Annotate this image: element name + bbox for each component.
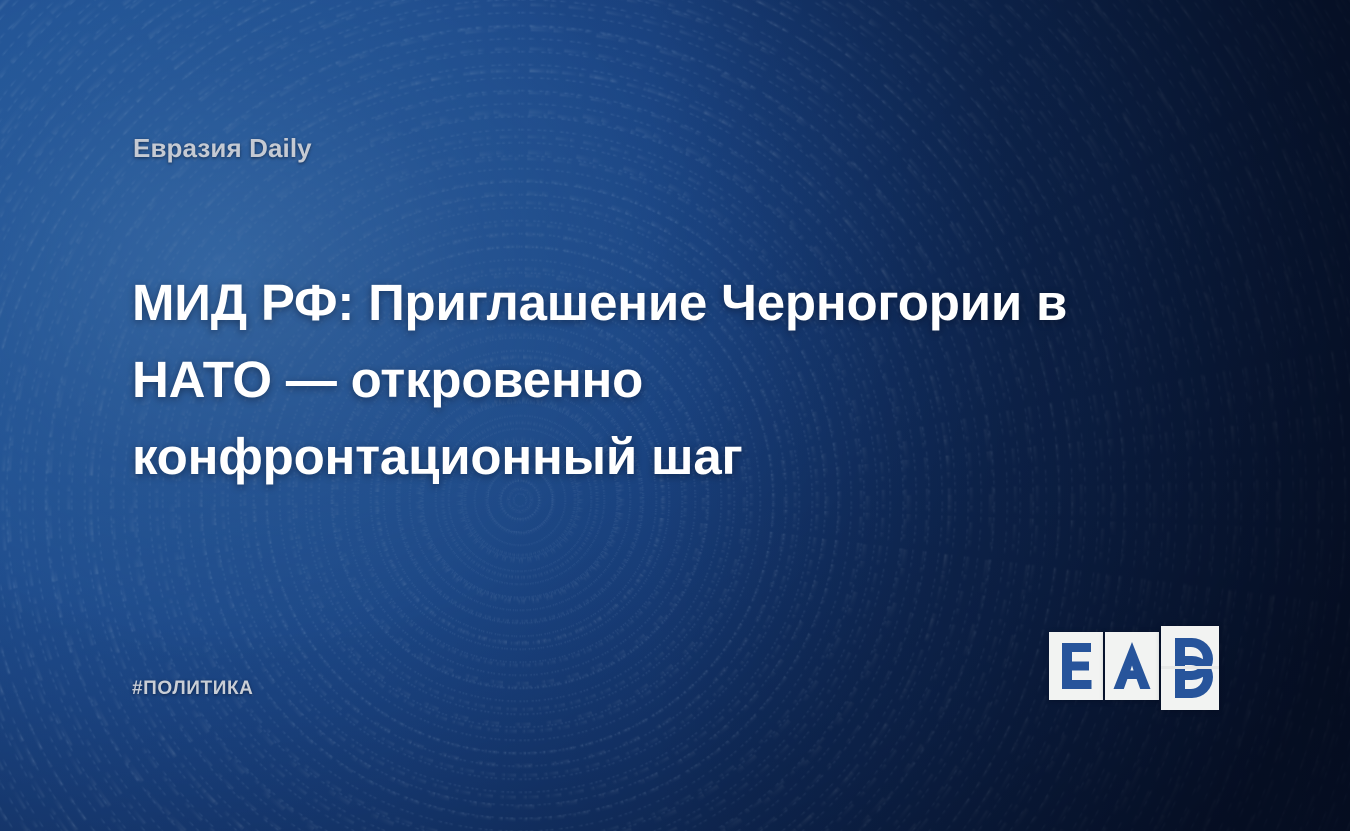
- logo-square-d-divider: [1161, 666, 1219, 669]
- logo-letter-a-icon: [1105, 632, 1159, 700]
- headline[interactable]: МИД РФ: Приглашение Черногории в НАТО — …: [132, 264, 1132, 495]
- news-card: Евразия Daily МИД РФ: Приглашение Черног…: [0, 0, 1350, 831]
- brand-name[interactable]: Евразия Daily: [133, 133, 312, 164]
- logo-letter-e-icon: [1049, 632, 1103, 700]
- ead-logo[interactable]: [1047, 612, 1233, 716]
- card-content: Евразия Daily МИД РФ: Приглашение Черног…: [0, 0, 1350, 831]
- category-tag[interactable]: #ПОЛИТИКА: [132, 678, 254, 700]
